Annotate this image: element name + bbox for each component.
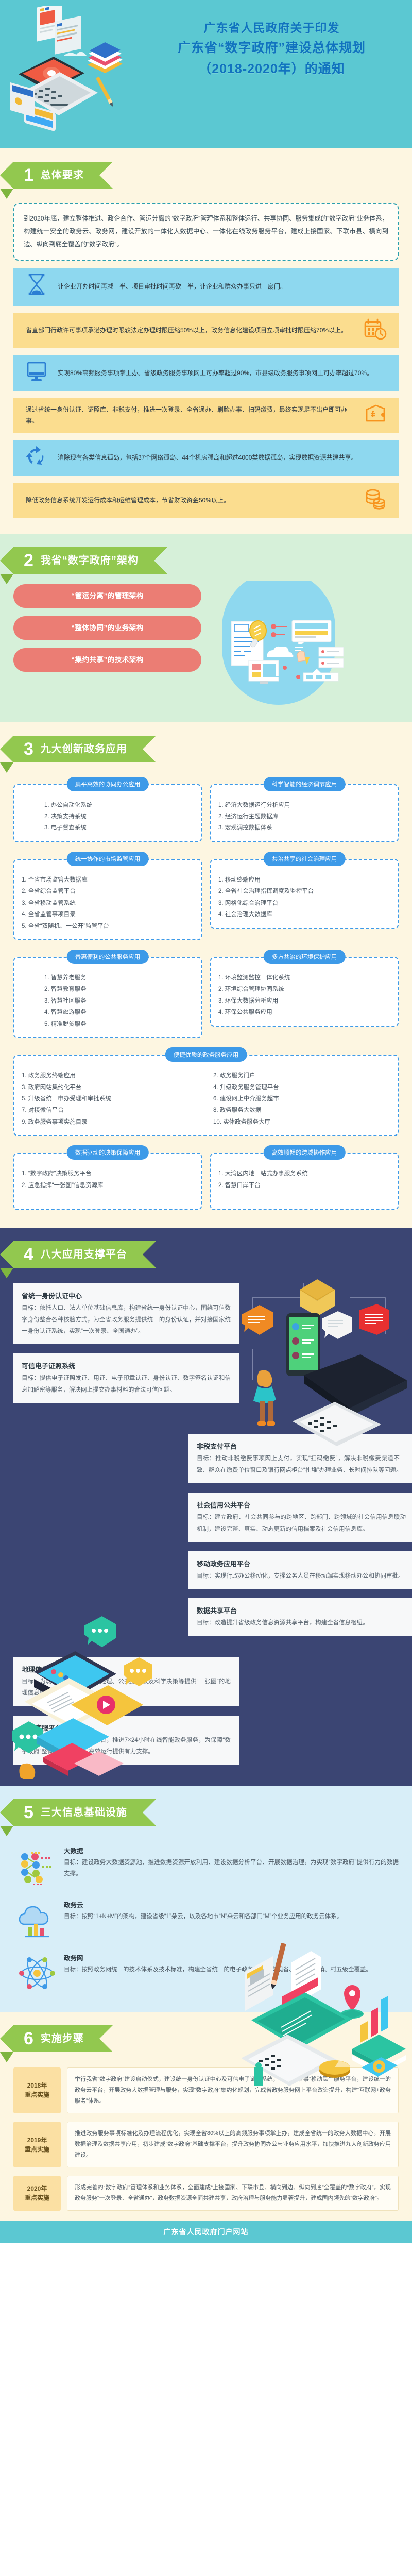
step-year: 2018年: [27, 2081, 47, 2090]
kpi-text: 让企业开办时间再减一半、项目审批时间再砍一半，让企业和群众办事只进一扇门。: [53, 281, 391, 292]
list-item: 1. 办公自动化系统: [44, 800, 194, 811]
section-banner-5: 5 三大信息基础设施: [13, 1799, 156, 1826]
section-banner-6: 6 实施步骤: [13, 2025, 113, 2052]
infra-row-big-data: 大数据 目标：建设政务大数据资源池、推进数据资源开放利用、建设数据分析平台、开展…: [0, 1839, 412, 1887]
infra-goal: 目标：按照“1+N+M”的架构，建设省级“1”朵云，以及各地市“N”朵云和各部门…: [64, 1911, 399, 1922]
hourglass-icon: [21, 273, 53, 300]
list-item: 1. 全省市场监管大数据库: [22, 874, 194, 886]
infographic-page: 广东省人民政府关于印发 广东省“数字政府”建设总体规划 （2018-2020年）…: [0, 0, 412, 2243]
infra-row-gov-cloud: 政务云 目标：按照“1+N+M”的架构，建设省级“1”朵云，以及各地市“N”朵云…: [0, 1893, 412, 1940]
list-item: 1. 大湾区内地一站式办事服务系统: [218, 1168, 390, 1179]
list-item: 4. 升级政务服务管理平台: [213, 1082, 390, 1093]
list-item: 9. 政务服务事项实施目录: [22, 1116, 199, 1128]
monitor-icon: [21, 361, 53, 386]
list-item: 2. 环境综合管理协同系统: [218, 984, 390, 995]
list-item: 3. 政府网站集约化平台: [22, 1082, 199, 1093]
infra-name: 大数据: [64, 1845, 399, 1855]
platform-card-identity-auth: 省统一身份认证中心 目标：依托人口、法人单位基础信息库，构建省统一身份认证中心，…: [13, 1283, 239, 1344]
platform-name: 省统一身份认证中心: [22, 1291, 231, 1300]
step-text: 举行我省“数字政府”建设启动仪式，建设统一身份认证中心及可信电子证照系统，上线“…: [75, 2074, 391, 2107]
step-phase: 重点实施: [25, 2090, 49, 2099]
platform-goal: 目标：依托人口、法人单位基础信息库，构建省统一身份认证中心，围绕可信数字身份整合…: [22, 1302, 231, 1337]
title-line-3: （2018-2020年）的通知: [139, 59, 404, 80]
title-line-1: 广东省人民政府关于印发: [139, 19, 404, 38]
platform-card-non-tax-payment: 非税支付平台 目标：推动非税缴费事项网上支付，实现“扫码缴费”，解决非税缴费渠道…: [188, 1434, 412, 1483]
architecture-pill-management[interactable]: “管运分离”的管理架构: [13, 584, 201, 608]
list-item: 1. 环境监测监控一体化系统: [218, 972, 390, 984]
list-item: 2. 智慧口岸平台: [218, 1180, 390, 1191]
app-card-social-governance: 共治共享的社会治理应用 1. 移动终端应用 2. 全省社会治理指挥调度及监控平台…: [210, 859, 399, 940]
kpi-text: 实现80%高频服务事项掌上办。省级政务服务事项网上可办率超过90%，市县级政务服…: [53, 367, 391, 379]
list-item: 2. 全省社会治理指挥调度及监控平台: [218, 886, 390, 897]
step-label: 2020年 重点实施: [13, 2176, 61, 2211]
architecture-pill-technology[interactable]: “集约共享”的技术架构: [13, 648, 201, 672]
app-card-title: 科学智能的经济调节应用: [264, 777, 346, 791]
step-phase: 重点实施: [25, 2145, 49, 2154]
step-row-2018: 2018年 重点实施 举行我省“数字政府”建设启动仪式，建设统一身份认证中心及可…: [0, 2067, 412, 2113]
section-banner-2: 2 我省“数字政府”架构: [13, 547, 167, 574]
app-card-economic-regulation: 科学智能的经济调节应用 1. 经济大数据运行分析应用 2. 经济运行主题数据库 …: [210, 784, 399, 842]
list-item: 4. 智慧旅游服务: [44, 1007, 194, 1018]
recycle-icon: [21, 445, 53, 470]
platform-name: 智能客服平台: [22, 1723, 231, 1733]
section-label: 八大应用支撑平台: [41, 1249, 127, 1260]
platform-name: 非税支付平台: [197, 1441, 406, 1451]
list-item: 2. 应急指挥“一张图”信息资源库: [22, 1180, 194, 1191]
infra-name: 政务网: [64, 1953, 399, 1962]
kpi-text: 降低政务信息系统开发运行成本和运维管理成本，节省财政资金50%以上。: [21, 495, 359, 506]
platform-card-e-license: 可信电子证照系统 目标：提供电子证照发证、用证、电子印章认证、身份认证、数字签名…: [13, 1353, 239, 1403]
app-card-title: 共治共享的社会治理应用: [264, 852, 346, 866]
list-item: 3. 全省移动监管系统: [22, 897, 194, 909]
section-number: 2: [24, 547, 33, 574]
list-item: 2. 政务服务门户: [213, 1070, 390, 1081]
platform-card-social-credit: 社会信用公共平台 目标：建立政府、社会共同参与的跨地区、跨部门、跨领域的社会信用…: [188, 1493, 412, 1542]
section-banner-1: 1 总体要求: [13, 162, 113, 189]
platform-goal: 目标：改造提升省级政务信息资源共享平台，构建全省信息枢纽。: [197, 1617, 406, 1629]
app-card-environment-protection: 多方共治的环境保护应用 1. 环境监测监控一体化系统 2. 环境综合管理协同系统…: [210, 957, 399, 1038]
list-item: 7. 对接微信平台: [22, 1105, 199, 1116]
list-item: 5. 全省“双随机、一公开”监管平台: [22, 921, 194, 932]
platform-name: 可信电子证照系统: [22, 1361, 231, 1370]
platform-goal: 目标：提供电子证照发证、用证、电子印章认证、身份认证、数字签名认证和信息加解密等…: [22, 1372, 231, 1396]
section-banner-3: 3 九大创新政务应用: [13, 736, 156, 762]
list-item: 1. 智慧养老服务: [44, 972, 194, 984]
kpi-text: 通过省统一身份认证、证照库、非税支付，推进一次登录、全省通办、刷脸办事、扫码缴费…: [21, 404, 359, 427]
list-item: 3. 宏观调控数据体系: [218, 822, 390, 834]
application-card-grid: 扁平高效的协同办公应用 1. 办公自动化系统 2. 决策支持系统 3. 电子督查…: [0, 770, 412, 1211]
list-item: 10. 实体政务服务大厅: [213, 1116, 390, 1128]
app-card-title: 扁平高效的协同办公应用: [67, 777, 149, 791]
section-number: 5: [24, 1799, 33, 1826]
platform-name: 数据共享平台: [197, 1605, 406, 1615]
section-label: 总体要求: [41, 170, 84, 181]
app-card-cross-region-collaboration: 高效顺畅的跨域协作应用 1. 大湾区内地一站式办事服务系统 2. 智慧口岸平台: [210, 1153, 399, 1210]
network-nodes-icon: [13, 1845, 62, 1887]
list-item: 4. 环保公共服务应用: [218, 1007, 390, 1018]
list-item: 5. 升级省统一申办受理和审批系统: [22, 1093, 199, 1105]
app-card-title: 多方共治的环境保护应用: [264, 950, 346, 964]
app-card-decision-support: 数据驱动的决策保障应用 1. “数字政府”决策服务平台 2. 应急指挥“一张图”…: [13, 1153, 202, 1210]
list-item: 1. 移动终端应用: [218, 874, 390, 886]
section-banner-4: 4 八大应用支撑平台: [13, 1241, 156, 1268]
step-label: 2018年 重点实施: [13, 2067, 61, 2113]
list-item: 2. 全省综合监管平台: [22, 886, 194, 897]
list-item: 3. 环保大数据分析应用: [218, 995, 390, 1007]
coins-icon: [359, 488, 391, 513]
section-architecture: 2 我省“数字政府”架构 “管运分离”的管理架构 “整体协同”的业务架构 “集约…: [0, 534, 412, 722]
step-year: 2020年: [27, 2184, 47, 2193]
list-item: 5. 精准脱贫服务: [44, 1019, 194, 1030]
app-card-title: 统一协作的市场监管应用: [67, 852, 149, 866]
section-three-infrastructures: 5 三大信息基础设施: [0, 1786, 412, 2012]
cloud-chart-icon: [13, 1900, 62, 1940]
app-card-title: 普惠便利的公共服务应用: [67, 950, 149, 964]
step-text: 推进政务服务事项标准化及办理流程优化，实现全省80%以上的高频服务事项掌上办，建…: [75, 2128, 391, 2161]
app-card-public-service: 普惠便利的公共服务应用 1. 智慧养老服务 2. 智慧教育服务 3. 智慧社区服…: [13, 957, 202, 1038]
atom-network-icon: [13, 1953, 62, 1994]
list-item: 2. 决策支持系统: [44, 811, 194, 822]
step-row-2019: 2019年 重点实施 推进政务服务事项标准化及办理流程优化，实现全省80%以上的…: [0, 2122, 412, 2167]
page-footer: 广东省人民政府门户网站: [0, 2221, 412, 2243]
section-overall-requirements: 1 总体要求 到2020年底，建立整体推进、政企合作、管运分离的“数字政府”管理…: [0, 148, 412, 534]
section-label: 我省“数字政府”架构: [41, 555, 139, 566]
infra-name: 政务云: [64, 1900, 399, 1909]
list-item: 1. 政务服务终端应用: [22, 1070, 199, 1081]
title-line-2: 广东省“数字政府”建设总体规划: [139, 38, 404, 59]
overall-requirements-summary: 到2020年底，建立整体推进、政企合作、管运分离的“数字政府”管理体系和整体运行…: [13, 203, 399, 261]
app-card-title: 数据驱动的决策保障应用: [67, 1145, 149, 1160]
list-item: 1. “数字政府”决策服务平台: [22, 1168, 194, 1179]
infra-row-gov-network: 政务网 目标：按照政务网统一的技术体系及技术标准，构建全省统一的电子政务网络，实…: [0, 1946, 412, 1994]
page-title: 广东省人民政府关于印发 广东省“数字政府”建设总体规划 （2018-2020年）…: [139, 19, 404, 79]
platform-card-mobile-government: 移动政务应用平台 目标：实现行政办公移动化，支撑公务人员在移动端实现移动办公和协…: [188, 1551, 412, 1589]
step-phase: 重点实施: [25, 2193, 49, 2202]
step-row-2020: 2020年 重点实施 形成完善的“数字政府”管理体系和业务体系，全面建成“上接国…: [0, 2176, 412, 2211]
platform-goal: 目标：推动非税缴费事项网上支付，实现“扫码缴费”，解决非税缴费渠道不一致、群众在…: [197, 1453, 406, 1476]
step-year: 2019年: [27, 2136, 47, 2145]
list-item: 6. 建设网上中介服务超市: [213, 1093, 390, 1105]
list-item: 4. 全省监管事项目录: [22, 909, 194, 920]
list-item: 1. 经济大数据运行分析应用: [218, 800, 390, 811]
app-card-government-service: 便捷优质的政务服务应用 1. 政务服务终端应用 3. 政府网站集约化平台 5. …: [13, 1055, 399, 1136]
app-card-collaborative-office: 扁平高效的协同办公应用 1. 办公自动化系统 2. 决策支持系统 3. 电子督查…: [13, 784, 202, 842]
platform-goal: 目标：实现行政办公移动化，支撑公务人员在移动端实现移动办公和协同审批。: [197, 1570, 406, 1582]
step-label: 2019年 重点实施: [13, 2122, 61, 2167]
app-card-title: 高效顺畅的跨域协作应用: [264, 1145, 346, 1160]
list-item: 2. 智慧教育服务: [44, 984, 194, 995]
platform-goal: 目标：建立政府、社会共同参与的跨地区、跨部门、跨领域的社会信用信息联动机制，建设…: [197, 1512, 406, 1535]
platform-goal: 目标：为城市公共管理、应急处理、公共服务以及科学决策等提供“一张图”的地理信息数…: [22, 1676, 231, 1699]
kpi-text: 省直部门行政许可事项承诺办理时限较法定办理时限压缩50%以上，政务信息化建设项目…: [21, 325, 359, 336]
section-eight-platforms: 4 八大应用支撑平台 省统一身份认证中心 目标：依托人口、法人单位基础信息库，构…: [0, 1228, 412, 1785]
list-item: 3. 智慧社区服务: [44, 995, 194, 1007]
step-text: 形成完善的“数字政府”管理体系和业务体系，全面建成“上接国家、下联市县、横向到边…: [75, 2182, 391, 2204]
section-nine-applications: 3 九大创新政务应用 扁平高效的协同办公应用 1. 办公自动化系统 2. 决策支…: [0, 722, 412, 1228]
platform-goal: 目标：建设全省统一的预约平台，推进7×24小时在线智能政务服务，为保障“数字政府…: [22, 1735, 231, 1758]
app-card-market-supervision: 统一协作的市场监管应用 1. 全省市场监管大数据库 2. 全省综合监管平台 3.…: [13, 859, 202, 940]
infra-goal: 目标：建设政务大数据资源池、推进数据资源开放利用、建设数据分析平台、开展数据治理…: [64, 1857, 399, 1880]
footer-text: 广东省人民政府门户网站: [164, 2227, 249, 2237]
platform-name: 地理信息公共平台: [22, 1664, 231, 1674]
list-item: 4. 社会治理大数据库: [218, 909, 390, 920]
infra-goal: 目标：按照政务网统一的技术体系及技术标准，构建全省统一的电子政务网络，实现省、市…: [64, 1964, 399, 1975]
section-number: 3: [24, 736, 33, 762]
wallet-icon: [359, 403, 391, 428]
section-number: 1: [24, 162, 33, 189]
kpi-row-approval-deadline: 省直部门行政许可事项承诺办理时限较法定办理时限压缩50%以上，政务信息化建设项目…: [13, 313, 399, 348]
page-header: 广东省人民政府关于印发 广东省“数字政府”建设总体规划 （2018-2020年）…: [0, 0, 412, 148]
calendar-clock-icon: [359, 318, 391, 343]
kpi-row-data-silos: 消除现有各类信息孤岛，包括37个网络孤岛、44个机房孤岛和超过4000类数据孤岛…: [13, 440, 399, 476]
section-label: 九大创新政务应用: [41, 743, 127, 755]
section-number: 4: [24, 1241, 33, 1268]
kpi-row-online-service: 实现80%高频服务事项掌上办。省级政务服务事项网上可办率超过90%，市县级政务服…: [13, 355, 399, 391]
kpi-row-unified-auth: 通过省统一身份认证、证照库、非税支付，推进一次登录、全省通办、刷脸办事、扫码缴费…: [13, 398, 399, 433]
app-card-title: 便捷优质的政务服务应用: [165, 1047, 247, 1062]
kpi-row-cost-saving: 降低政务信息系统开发运行成本和运维管理成本，节省财政资金50%以上。: [13, 483, 399, 518]
list-item: 8. 政务服务大数据: [213, 1105, 390, 1116]
list-item: 3. 网格化综合治理平台: [218, 897, 390, 909]
section-number: 6: [24, 2025, 33, 2052]
messaging-illustration: [242, 1277, 407, 1447]
section-label: 三大信息基础设施: [41, 1807, 127, 1818]
section-implementation-steps: 6 实施步骤 2018年 重点实施 举行我省“数字政府”建设启动仪式，建设统一身…: [0, 2012, 412, 2222]
list-item: 3. 电子督查系统: [44, 822, 194, 834]
section-label: 实施步骤: [41, 2033, 84, 2044]
kpi-row-business-time: 让企业开办时间再减一半、项目审批时间再砍一半，让企业和群众办事只进一扇门。: [13, 268, 399, 306]
kpi-text: 消除现有各类信息孤岛，包括37个网络孤岛、44个机房孤岛和超过4000类数据孤岛…: [53, 452, 391, 463]
platform-name: 移动政务应用平台: [197, 1558, 406, 1568]
platform-card-geo-information: 地理信息公共平台 目标：为城市公共管理、应急处理、公共服务以及科学决策等提供“一…: [13, 1657, 239, 1706]
platform-card-data-sharing: 数据共享平台 目标：改造提升省级政务信息资源共享平台，构建全省信息枢纽。: [188, 1598, 412, 1636]
architecture-illustration: [201, 581, 356, 705]
architecture-pill-business[interactable]: “整体协同”的业务架构: [13, 616, 201, 640]
header-illustration: [9, 6, 143, 135]
list-item: 2. 经济运行主题数据库: [218, 811, 390, 822]
platform-card-smart-customer-service: 智能客服平台 目标：建设全省统一的预约平台，推进7×24小时在线智能政务服务，为…: [13, 1716, 239, 1765]
summary-text: 到2020年底，建立整体推进、政企合作、管运分离的“数字政府”管理体系和整体运行…: [24, 212, 388, 251]
platform-name: 社会信用公共平台: [197, 1500, 406, 1510]
